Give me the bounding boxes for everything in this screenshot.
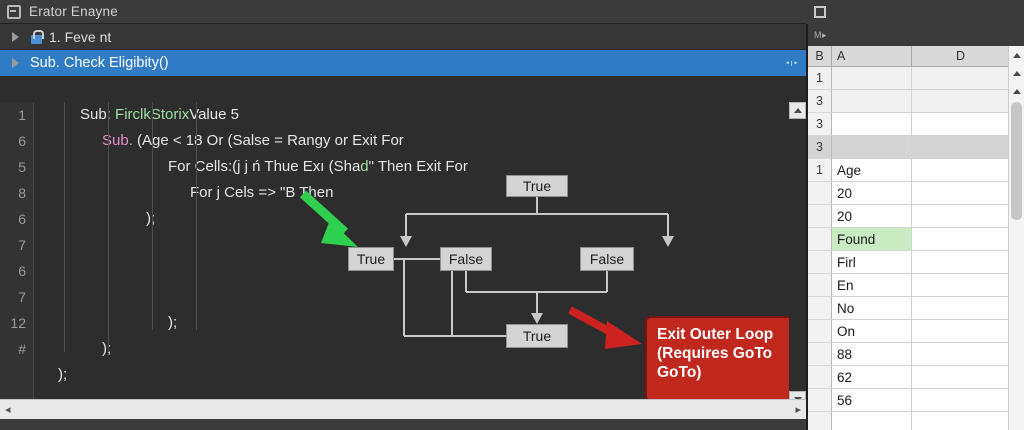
scroll-up-button[interactable]	[789, 102, 806, 119]
restore-icon[interactable]	[814, 6, 826, 18]
flow-node-false-right[interactable]: False	[580, 247, 634, 271]
window-title: Erator Enayne	[29, 4, 118, 19]
cell-column-d[interactable]	[912, 136, 1010, 159]
cell-column-a[interactable]	[832, 113, 912, 136]
line-number: 7	[0, 232, 33, 258]
column-header-b[interactable]: B	[808, 46, 832, 67]
row-header[interactable]	[808, 251, 832, 274]
cell-column-a[interactable]: 20	[832, 182, 912, 205]
line-number: 8	[0, 180, 33, 206]
spreadsheet-grid[interactable]: B A D 13331Age2020FoundFirlEnNoOn886256	[808, 46, 1010, 430]
tree-row-label: 1. Feve nt	[49, 29, 111, 45]
cell-column-a[interactable]: Firl	[832, 251, 912, 274]
table-row[interactable]: On	[808, 320, 1010, 343]
chevron-right-icon[interactable]	[0, 50, 30, 76]
code-token: Sub:	[80, 106, 115, 123]
flow-node-label: True	[523, 178, 551, 194]
table-row[interactable]	[808, 412, 1010, 430]
table-row[interactable]: Found	[808, 228, 1010, 251]
row-header[interactable]: 3	[808, 136, 832, 159]
cell-column-a[interactable]: No	[832, 297, 912, 320]
flow-node-true-top[interactable]: True	[506, 175, 568, 197]
callout-line-2: (Requires GoTo	[657, 345, 790, 364]
cell-column-a[interactable]: 20	[832, 205, 912, 228]
code-token: );	[146, 210, 155, 227]
cell-column-a[interactable]: Age	[832, 159, 912, 182]
window-icon	[7, 5, 21, 19]
cell-column-d[interactable]	[912, 343, 1010, 366]
cell-column-d[interactable]	[912, 320, 1010, 343]
row-options-icon[interactable]: •ı•	[786, 58, 798, 68]
callout-line-1: Exit Outer Loop	[657, 326, 790, 345]
cell-column-a[interactable]	[832, 412, 912, 430]
table-row[interactable]: 1	[808, 67, 1010, 90]
code-token: );	[58, 366, 67, 383]
line-number: 6	[0, 206, 33, 232]
code-token: );	[168, 314, 177, 331]
flow-node-true-left[interactable]: True	[348, 247, 394, 271]
cell-column-a[interactable]: 62	[832, 366, 912, 389]
scroll-up-button[interactable]	[1009, 46, 1024, 64]
column-header-row: B A D	[808, 46, 1010, 67]
tree-row-label: Sub. Check Eligibity()	[30, 55, 169, 71]
cell-column-d[interactable]	[912, 90, 1010, 113]
flow-node-false-mid[interactable]: False	[440, 247, 492, 271]
status-bar	[0, 419, 806, 430]
code-token: );	[102, 340, 111, 357]
row-header[interactable]	[808, 320, 832, 343]
cell-column-a[interactable]	[832, 90, 912, 113]
flow-node-true-bottom[interactable]: True	[506, 324, 568, 348]
flow-node-label: True	[357, 251, 385, 267]
cell-column-d[interactable]	[912, 412, 1010, 430]
code-horizontal-scrollbar[interactable]: ◂ ▸	[0, 399, 806, 419]
scroll-left-button[interactable]: ◂	[0, 403, 16, 416]
line-number-gutter: 1658676712#	[0, 102, 34, 430]
row-header[interactable]	[808, 366, 832, 389]
cell-column-d[interactable]	[912, 159, 1010, 182]
row-header[interactable]: 3	[808, 113, 832, 136]
table-row[interactable]: 3	[808, 113, 1010, 136]
cell-column-a[interactable]	[832, 136, 912, 159]
callout-line-3: GoTo)	[657, 364, 790, 383]
cell-column-a[interactable]: Found	[832, 228, 912, 251]
arrow-up-icon	[1013, 89, 1021, 94]
indent-guide	[64, 102, 65, 352]
line-number: #	[0, 336, 33, 362]
code-editor-panel: 1. Feve nt Sub. Check Eligibity() •ı• 16…	[0, 24, 806, 430]
toolbar-glyph-icon[interactable]: M▸	[814, 30, 827, 41]
row-header[interactable]	[808, 297, 832, 320]
cell-column-d[interactable]	[912, 389, 1010, 412]
line-number: 7	[0, 284, 33, 310]
table-row[interactable]: 88	[808, 343, 1010, 366]
line-number: 1	[0, 102, 33, 128]
cell-column-d[interactable]	[912, 182, 1010, 205]
application-window: Erator Enayne 1. Feve nt Sub. Check Elig…	[0, 0, 1024, 430]
table-row[interactable]: Firl	[808, 251, 1010, 274]
row-header[interactable]: 1	[808, 67, 832, 90]
cell-column-a[interactable]: On	[832, 320, 912, 343]
table-row[interactable]: En	[808, 274, 1010, 297]
cell-column-a[interactable]: En	[832, 274, 912, 297]
row-header[interactable]	[808, 412, 832, 430]
scrollbar-thumb[interactable]	[1011, 102, 1022, 220]
indent-guide	[108, 102, 109, 352]
row-header[interactable]	[808, 274, 832, 297]
scroll-up-button-2[interactable]	[1009, 64, 1024, 82]
row-header[interactable]	[808, 182, 832, 205]
cell-column-d[interactable]	[912, 205, 1010, 228]
row-header[interactable]	[808, 389, 832, 412]
arrow-up-icon	[1013, 53, 1021, 58]
code-token: d	[360, 158, 368, 175]
flow-node-label: True	[523, 328, 551, 344]
callout-exit-outer-loop[interactable]: Exit Outer Loop (Requires GoTo GoTo)	[645, 316, 802, 402]
lock-icon	[30, 30, 43, 44]
cell-column-d[interactable]	[912, 366, 1010, 389]
spreadsheet-toolbar: M▸	[808, 24, 1024, 46]
table-row[interactable]: 3	[808, 136, 1010, 159]
sheet-title-bar	[806, 0, 1024, 24]
chevron-right-icon[interactable]	[0, 24, 30, 50]
table-row[interactable]: No	[808, 297, 1010, 320]
table-row[interactable]: 1Age	[808, 159, 1010, 182]
cell-column-a[interactable]: 56	[832, 389, 912, 412]
row-header[interactable]: 3	[808, 90, 832, 113]
code-token: " Then Exit For	[369, 158, 468, 175]
sheet-vertical-scrollbar[interactable]	[1008, 46, 1024, 430]
table-row[interactable]: 20	[808, 182, 1010, 205]
flow-node-label: False	[449, 251, 483, 267]
table-row[interactable]: 62	[808, 366, 1010, 389]
row-header[interactable]: 1	[808, 159, 832, 182]
cell-column-d[interactable]	[912, 67, 1010, 90]
code-token: For j Cels => "B Then	[190, 184, 333, 201]
tree-row-check-eligibility[interactable]: Sub. Check Eligibity() •ı•	[0, 50, 806, 76]
cell-column-d[interactable]	[912, 113, 1010, 136]
row-header[interactable]	[808, 205, 832, 228]
column-header-a[interactable]: A	[832, 46, 912, 67]
code-token: Sub.	[102, 132, 133, 149]
line-number: 6	[0, 258, 33, 284]
row-header[interactable]	[808, 343, 832, 366]
cell-column-d[interactable]	[912, 228, 1010, 251]
row-header[interactable]	[808, 228, 832, 251]
scroll-right-button[interactable]: ▸	[790, 403, 806, 416]
tree-row-event[interactable]: 1. Feve nt	[0, 24, 806, 50]
table-row[interactable]: 20	[808, 205, 1010, 228]
column-header-d[interactable]: D	[912, 46, 1010, 67]
cell-column-d[interactable]	[912, 274, 1010, 297]
table-row[interactable]: 56	[808, 389, 1010, 412]
arrow-up-icon	[1013, 71, 1021, 76]
table-row[interactable]: 3	[808, 90, 1010, 113]
line-number: 5	[0, 154, 33, 180]
cell-column-a[interactable]: 88	[832, 343, 912, 366]
indent-guide	[152, 102, 153, 330]
code-vertical-scrollbar[interactable]	[789, 102, 806, 408]
line-number: 6	[0, 128, 33, 154]
indent-guide	[196, 102, 197, 330]
spreadsheet-panel: M▸ B A D 13331Age2020FoundFirlEnNoOn8862…	[806, 24, 1024, 430]
code-token: (Age < 18 Or (Salse = Rangy or Exit For	[133, 132, 404, 149]
flow-node-label: False	[590, 251, 624, 267]
scroll-up-button-3[interactable]	[1009, 82, 1024, 100]
arrow-up-icon	[794, 108, 802, 113]
cell-column-d[interactable]	[912, 251, 1010, 274]
line-number: 12	[0, 310, 33, 336]
cell-column-d[interactable]	[912, 297, 1010, 320]
cell-column-a[interactable]	[832, 67, 912, 90]
